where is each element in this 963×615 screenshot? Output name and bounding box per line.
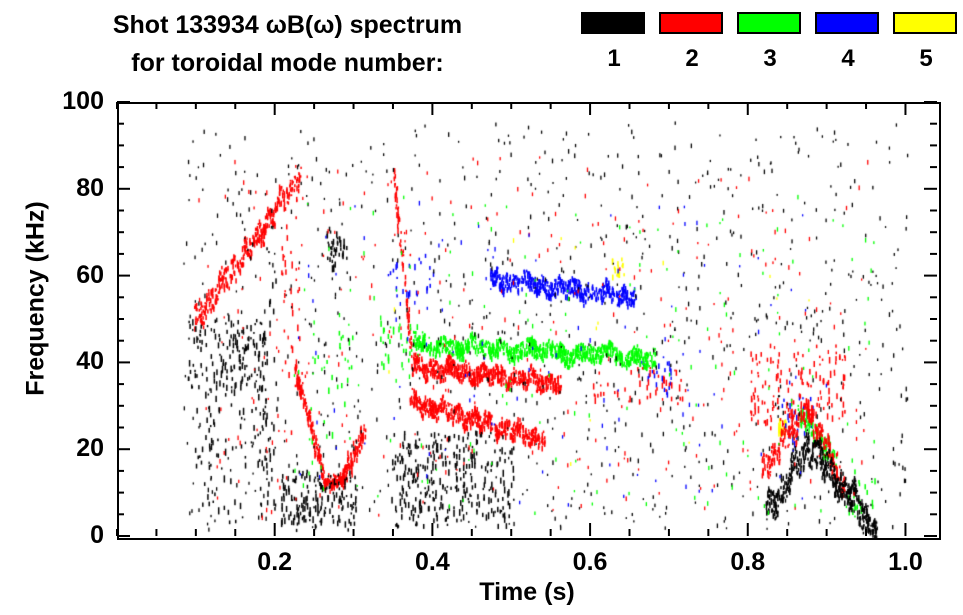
plot-area [117,102,941,540]
x-tick-label-1.0: 1.0 [860,550,950,575]
legend-entry-3[interactable]: 3 [737,12,803,72]
x-axis-label: Time (s) [117,578,937,607]
y-axis-label: Frequency (kHz) [22,109,51,489]
x-tick-label-0.6: 0.6 [545,550,635,575]
legend-swatch-1 [581,12,645,34]
legend-entry-4[interactable]: 4 [815,12,881,72]
x-tick-label-0.8: 0.8 [703,550,793,575]
legend-swatch-3 [737,12,801,34]
legend-entry-2[interactable]: 2 [659,12,725,72]
legend-label-2: 2 [659,46,725,72]
figure-title: Shot 133934 ωB(ω) spectrum for toroidal … [0,6,575,82]
spectrogram-figure: Shot 133934 ωB(ω) spectrum for toroidal … [0,0,963,615]
legend-label-4: 4 [815,46,881,72]
legend-swatch-5 [893,12,957,34]
title-line-1: Shot 133934 ωB(ω) spectrum [0,6,575,44]
legend: 12345 [575,12,963,88]
x-tick-label-0.4: 0.4 [387,550,477,575]
x-tick-label-0.2: 0.2 [230,550,320,575]
spectrogram-canvas[interactable] [119,104,939,538]
title-line-2: for toroidal mode number: [0,44,575,82]
legend-entry-5[interactable]: 5 [893,12,959,72]
legend-swatch-2 [659,12,723,34]
title-line-1-text: Shot 133934 ωB(ω) spectrum [113,11,462,39]
legend-entry-1[interactable]: 1 [581,12,647,72]
legend-label-3: 3 [737,46,803,72]
legend-label-5: 5 [893,46,959,72]
legend-label-1: 1 [581,46,647,72]
y-tick-label-0: 0 [8,523,104,548]
legend-swatch-4 [815,12,879,34]
